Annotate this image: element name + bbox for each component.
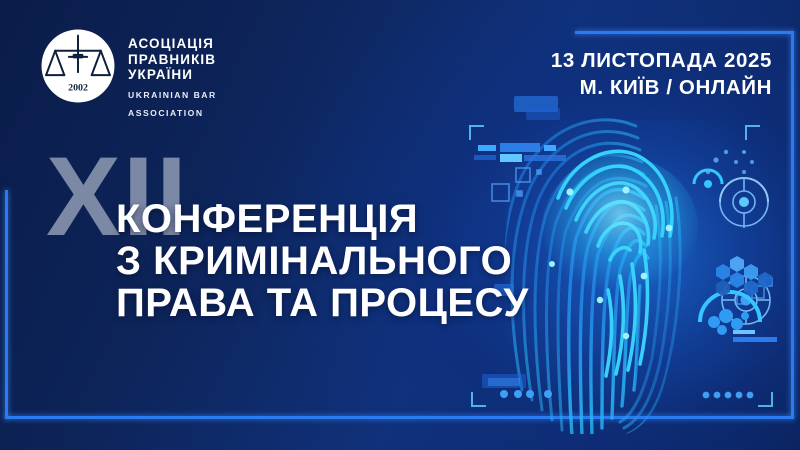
mini-gauge-dot <box>704 180 712 188</box>
scales-of-justice-emblem: 2002 <box>40 28 116 104</box>
event-date-location: 13 ЛИСТОПАДА 2025 М. КИЇВ / ОНЛАЙН <box>551 47 772 101</box>
page-title: КОНФЕРЕНЦІЯ З КРИМІНАЛЬНОГО ПРАВА ТА ПРО… <box>116 198 529 324</box>
logo-text-block: АСОЦІАЦІЯ ПРАВНИКІВ УКРАЇНИ UKRAINIAN BA… <box>128 28 217 119</box>
logo-name-ua-1: АСОЦІАЦІЯ <box>128 36 217 52</box>
logo-name-ua-3: УКРАЇНИ <box>128 67 217 83</box>
logo-name-ua-2: ПРАВНИКІВ <box>128 52 217 68</box>
conference-banner: 2002 АСОЦІАЦІЯ ПРАВНИКІВ УКРАЇНИ UKRAINI… <box>0 0 800 450</box>
logo-name-en-2: ASSOCIATION <box>128 107 217 119</box>
logo-year: 2002 <box>68 82 88 93</box>
event-date: 13 ЛИСТОПАДА 2025 <box>551 47 772 74</box>
title-line-1: КОНФЕРЕНЦІЯ <box>116 198 529 240</box>
corner-bracket-top-left <box>470 126 484 140</box>
progress-bar-strip <box>474 143 566 162</box>
logo-name-en-1: UKRAINIAN BAR <box>128 89 217 101</box>
ubа-logo: 2002 АСОЦІАЦІЯ ПРАВНИКІВ УКРАЇНИ UKRAINI… <box>40 28 217 119</box>
dot-row-left <box>500 390 552 398</box>
corner-bracket-bottom-right <box>758 392 772 406</box>
title-line-2: З КРИМІНАЛЬНОГО <box>116 240 529 282</box>
corner-bracket-bottom-left <box>472 392 486 406</box>
radar-center-dot <box>739 197 749 207</box>
corner-bracket-top-right <box>746 126 760 140</box>
event-location: М. КИЇВ / ОНЛАЙН <box>551 74 772 101</box>
dot-row-right <box>703 392 754 399</box>
title-line-3: ПРАВА ТА ПРОЦЕСУ <box>116 282 529 324</box>
